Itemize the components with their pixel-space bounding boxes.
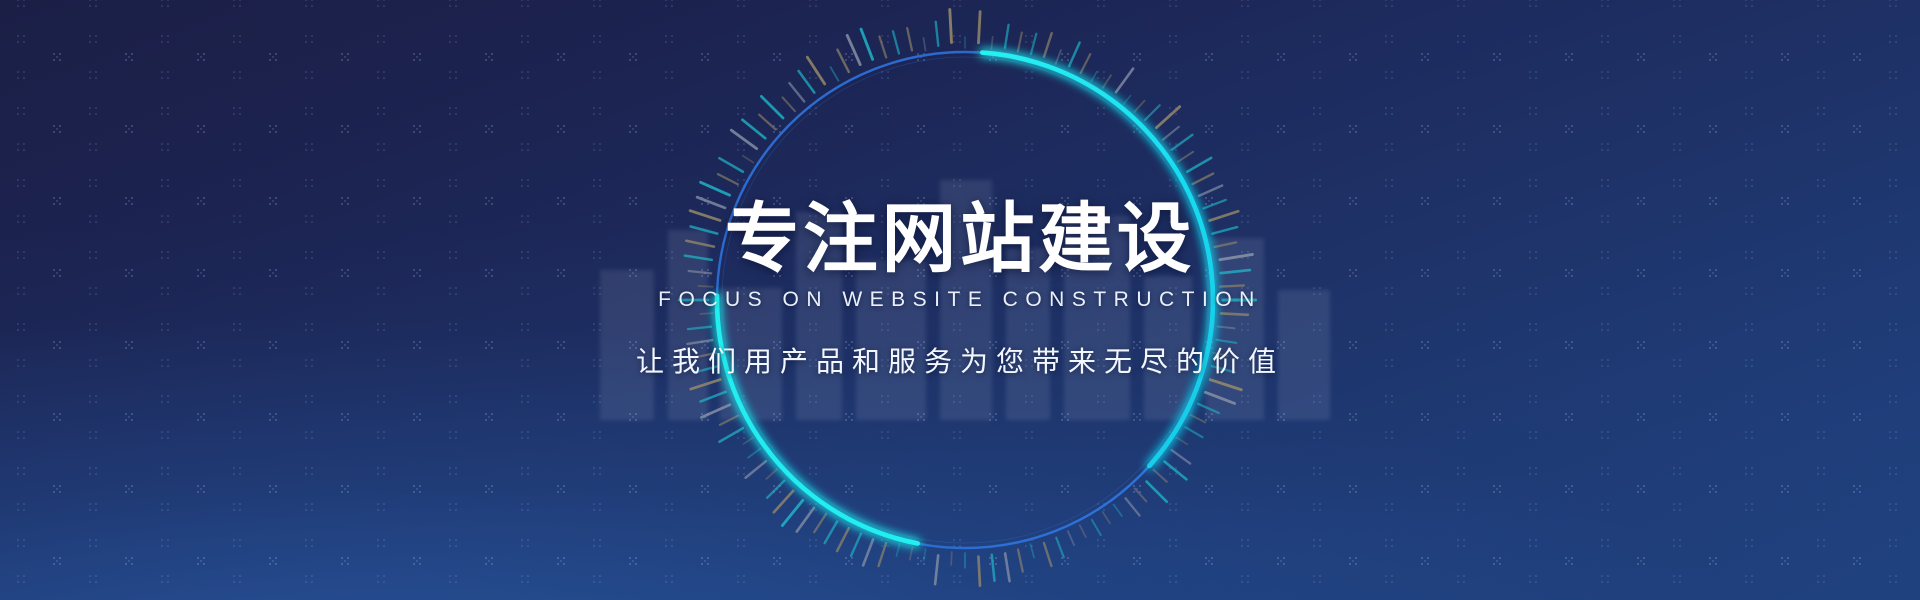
page-tagline: 让我们用产品和服务为您带来无尽的价值 — [636, 340, 1284, 380]
page-title: 专注网站建设 — [725, 202, 1195, 278]
hero-text-block: 专注网站建设 FOCUS ON WEBSITE CONSTRUCTION 让我们… — [0, 0, 1920, 600]
hero-banner: 专注网站建设 FOCUS ON WEBSITE CONSTRUCTION 让我们… — [0, 0, 1920, 600]
page-subtitle-english: FOCUS ON WEBSITE CONSTRUCTION — [658, 288, 1262, 312]
